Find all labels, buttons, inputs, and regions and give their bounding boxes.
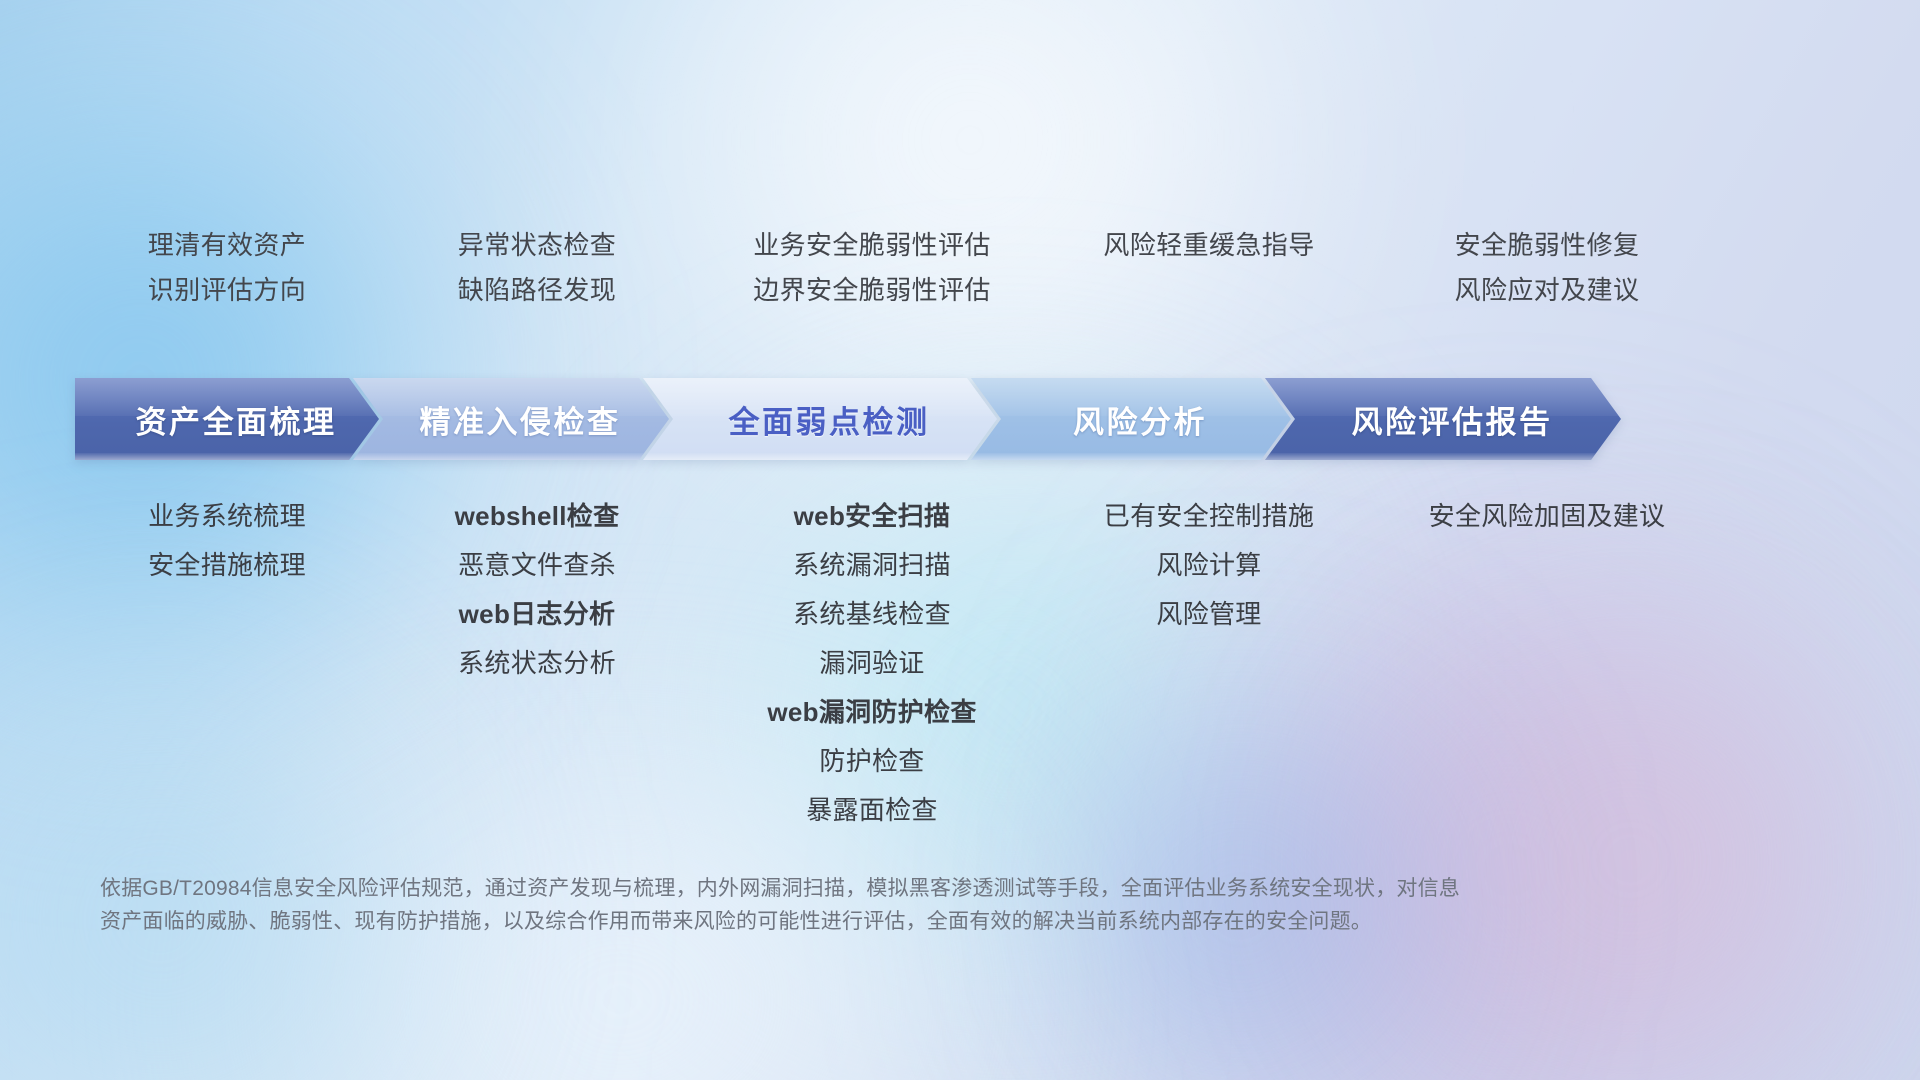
stage-items-1: 业务系统梳理 安全措施梳理 [75,498,379,583]
stage-items-row: 业务系统梳理 安全措施梳理 webshell检查 恶意文件查杀 web日志分析 … [75,498,1865,828]
stage-items-3: web安全扫描 系统漏洞扫描 系统基线检查 漏洞验证 web漏洞防护检查 防护检… [695,498,1049,828]
stage-arrow-label: 资产全面梳理 [118,397,337,442]
top-caption: 缺陷路径发现 [458,273,616,307]
stage-item: 系统状态分析 [458,645,616,681]
stage-items-4: 已有安全控制措施 风险计算 风险管理 [1049,498,1369,632]
arrow-under-highlight [971,453,1291,460]
top-caption: 理清有效资产 [148,228,306,262]
top-caption: 异常状态检查 [458,228,616,262]
top-caption: 边界安全脆弱性评估 [753,273,991,307]
footer-description: 依据GB/T20984信息安全风险评估规范，通过资产发现与梳理，内外网漏洞扫描，… [100,872,1720,938]
stage-arrow-asset-inventory[interactable]: 资产全面梳理 [75,378,379,460]
stage-item: webshell检查 [455,498,620,534]
stage-top-captions-row: 理清有效资产 识别评估方向 异常状态检查 缺陷路径发现 业务安全脆弱性评估 边界… [75,228,1865,338]
stage-item: 系统基线检查 [793,596,951,632]
footer-line-2: 资产面临的威胁、脆弱性、现有防护措施，以及综合作用而带来风险的可能性进行评估，全… [100,905,1720,938]
arrow-under-highlight [643,453,997,460]
top-caption: 风险轻重缓急指导 [1103,228,1314,262]
stage-item: 暴露面检查 [806,792,938,828]
stage-arrow-intrusion-check[interactable]: 精准入侵检查 [353,378,669,460]
stage-items-2: webshell检查 恶意文件查杀 web日志分析 系统状态分析 [379,498,695,681]
stage-item: 系统漏洞扫描 [793,547,951,583]
stage-item: 安全措施梳理 [148,547,306,583]
stage-items-5: 安全风险加固及建议 [1369,498,1725,534]
stage-item: web日志分析 [459,596,616,632]
top-caption: 风险应对及建议 [1455,273,1640,307]
stage-arrow-label: 风险评估报告 [1334,397,1553,442]
top-caption: 业务安全脆弱性评估 [753,228,991,262]
top-caption: 识别评估方向 [148,273,306,307]
process-arrow-band: 资产全面梳理 精准入侵检查 全面弱点检测 风险分析 风险评估报告 [75,378,1865,460]
stage-arrow-label: 全面弱点检测 [711,397,930,442]
stage-arrow-label: 风险分析 [1055,397,1207,442]
stage-item: 风险管理 [1156,596,1261,632]
stage-arrow-weakness-detection[interactable]: 全面弱点检测 [643,378,997,460]
stage-top-captions-2: 异常状态检查 缺陷路径发现 [379,228,695,338]
stage-item: 漏洞验证 [819,645,924,681]
stage-arrow-label: 精准入侵检查 [402,397,621,442]
stage-arrow-risk-analysis[interactable]: 风险分析 [971,378,1291,460]
stage-item: 安全风险加固及建议 [1429,498,1666,534]
stage-top-captions-4: 风险轻重缓急指导 [1049,228,1369,338]
arrow-under-highlight [1265,453,1621,460]
top-caption: 安全脆弱性修复 [1455,228,1640,262]
stage-item: 已有安全控制措施 [1104,498,1314,534]
stage-item: 业务系统梳理 [148,498,306,534]
stage-item: web安全扫描 [794,498,951,534]
arrow-under-highlight [353,453,669,460]
footer-line-1: 依据GB/T20984信息安全风险评估规范，通过资产发现与梳理，内外网漏洞扫描，… [100,872,1720,905]
stage-arrow-assessment-report[interactable]: 风险评估报告 [1265,378,1621,460]
stage-item: 风险计算 [1156,547,1261,583]
arrow-under-highlight [75,453,379,460]
diagram-content: 理清有效资产 识别评估方向 异常状态检查 缺陷路径发现 业务安全脆弱性评估 边界… [0,0,1920,1080]
stage-item: 防护检查 [819,743,924,779]
stage-top-captions-1: 理清有效资产 识别评估方向 [75,228,379,338]
stage-top-captions-5: 安全脆弱性修复 风险应对及建议 [1369,228,1725,338]
diagram-canvas: 理清有效资产 识别评估方向 异常状态检查 缺陷路径发现 业务安全脆弱性评估 边界… [0,0,1920,1080]
stage-item: web漏洞防护检查 [767,694,976,730]
stage-top-captions-3: 业务安全脆弱性评估 边界安全脆弱性评估 [695,228,1049,338]
stage-item: 恶意文件查杀 [458,547,616,583]
